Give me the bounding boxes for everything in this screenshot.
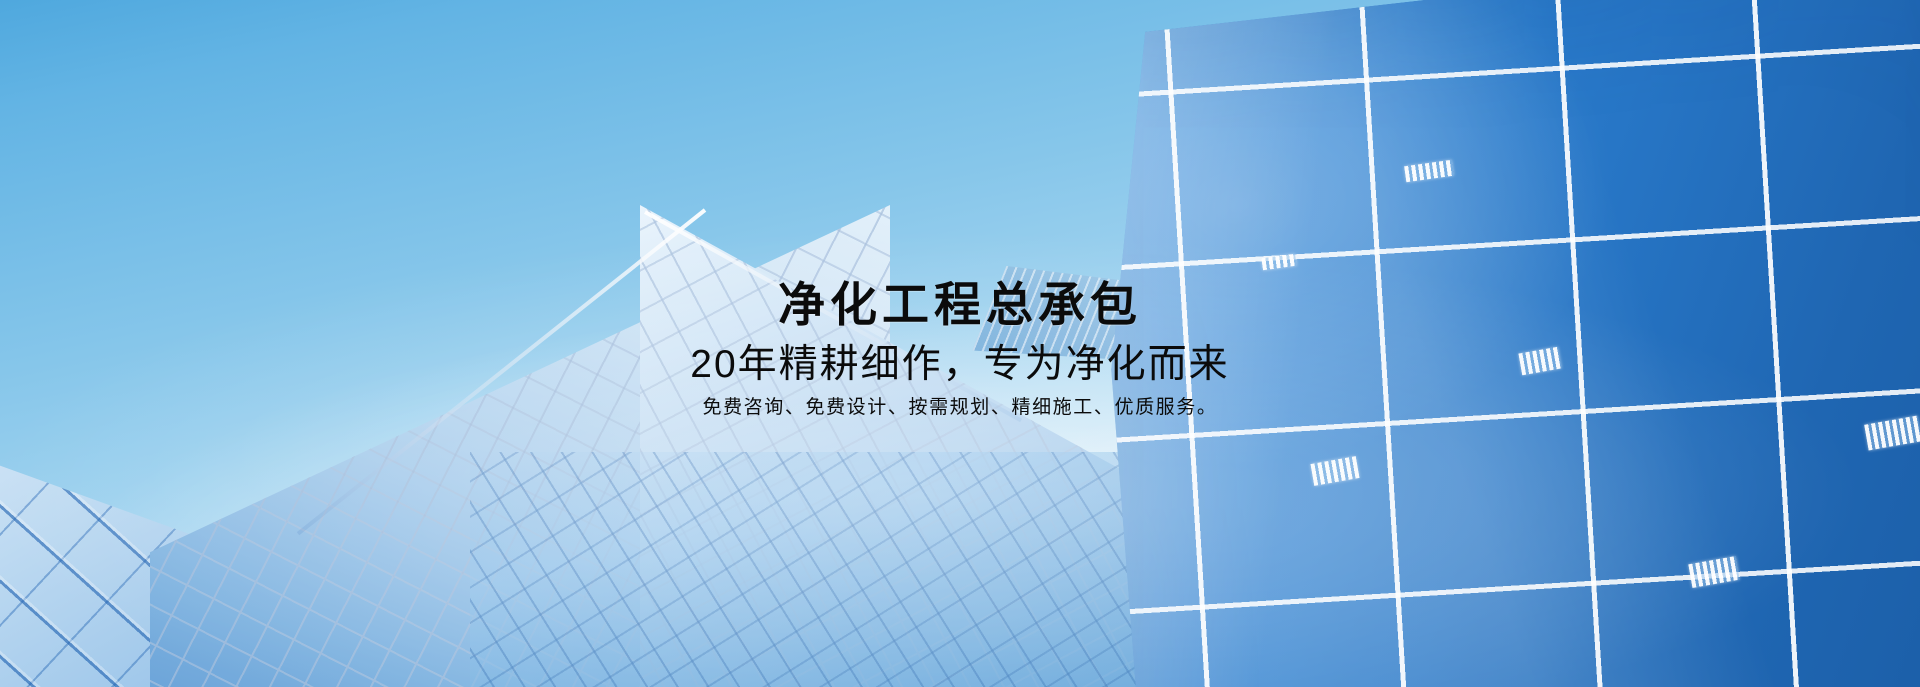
page-tagline: 免费咨询、免费设计、按需规划、精细施工、优质服务。 xyxy=(0,396,1920,421)
hero-copy-block: 净化工程总承包 20年精耕细作，专为净化而来 免费咨询、免费设计、按需规划、精细… xyxy=(0,279,1920,421)
center-lower-grid xyxy=(470,452,1230,687)
page-title: 净化工程总承包 xyxy=(0,279,1920,332)
hero-banner: 净化工程总承包 20年精耕细作，专为净化而来 免费咨询、免费设计、按需规划、精细… xyxy=(0,0,1920,687)
page-subtitle: 20年精耕细作，专为净化而来 xyxy=(0,342,1920,389)
center-lower-glass xyxy=(470,452,1230,687)
